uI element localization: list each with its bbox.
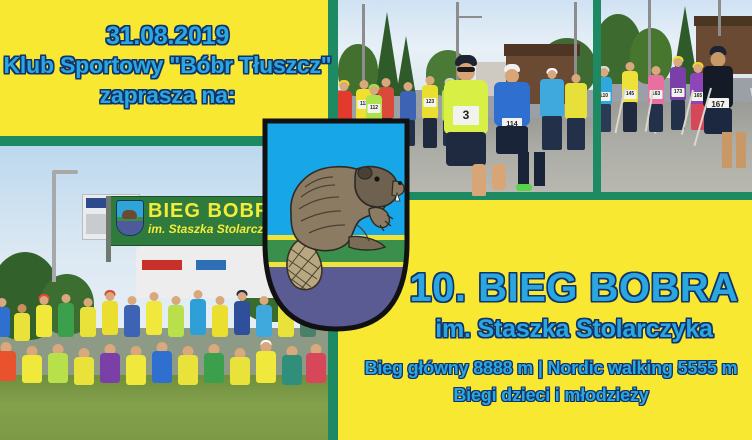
- organizer-club: Klub Sportowy "Bóbr Tłuszcz": [0, 52, 335, 79]
- banner-post: [106, 196, 111, 262]
- shield-lower-field: [261, 267, 411, 333]
- finish-tent: [136, 246, 278, 298]
- beaver-coat-of-arms: [261, 117, 411, 333]
- kids-races-line: Biegi dzieci i młodzieży: [350, 385, 752, 406]
- banner-crest: [116, 200, 144, 236]
- shield-band-edge-bottom: [261, 262, 411, 267]
- nordic-walking-photo: 110 145 163 173 1: [600, 0, 752, 196]
- photo-grass: [0, 375, 335, 440]
- distances-line: Bieg główny 8888 m | Nordic walking 5555…: [350, 358, 752, 379]
- divider-vertical-center: [593, 0, 601, 196]
- event-date: 31.08.2019: [0, 22, 335, 51]
- invitation-text: zaprasza na:: [0, 82, 335, 109]
- page-title: 10. BIEG BOBRA: [398, 266, 750, 311]
- page-subtitle: im. Staszka Stolarczyka: [398, 315, 750, 344]
- street-lamp: [52, 172, 56, 282]
- poster-canvas: 113 123 112: [0, 0, 752, 440]
